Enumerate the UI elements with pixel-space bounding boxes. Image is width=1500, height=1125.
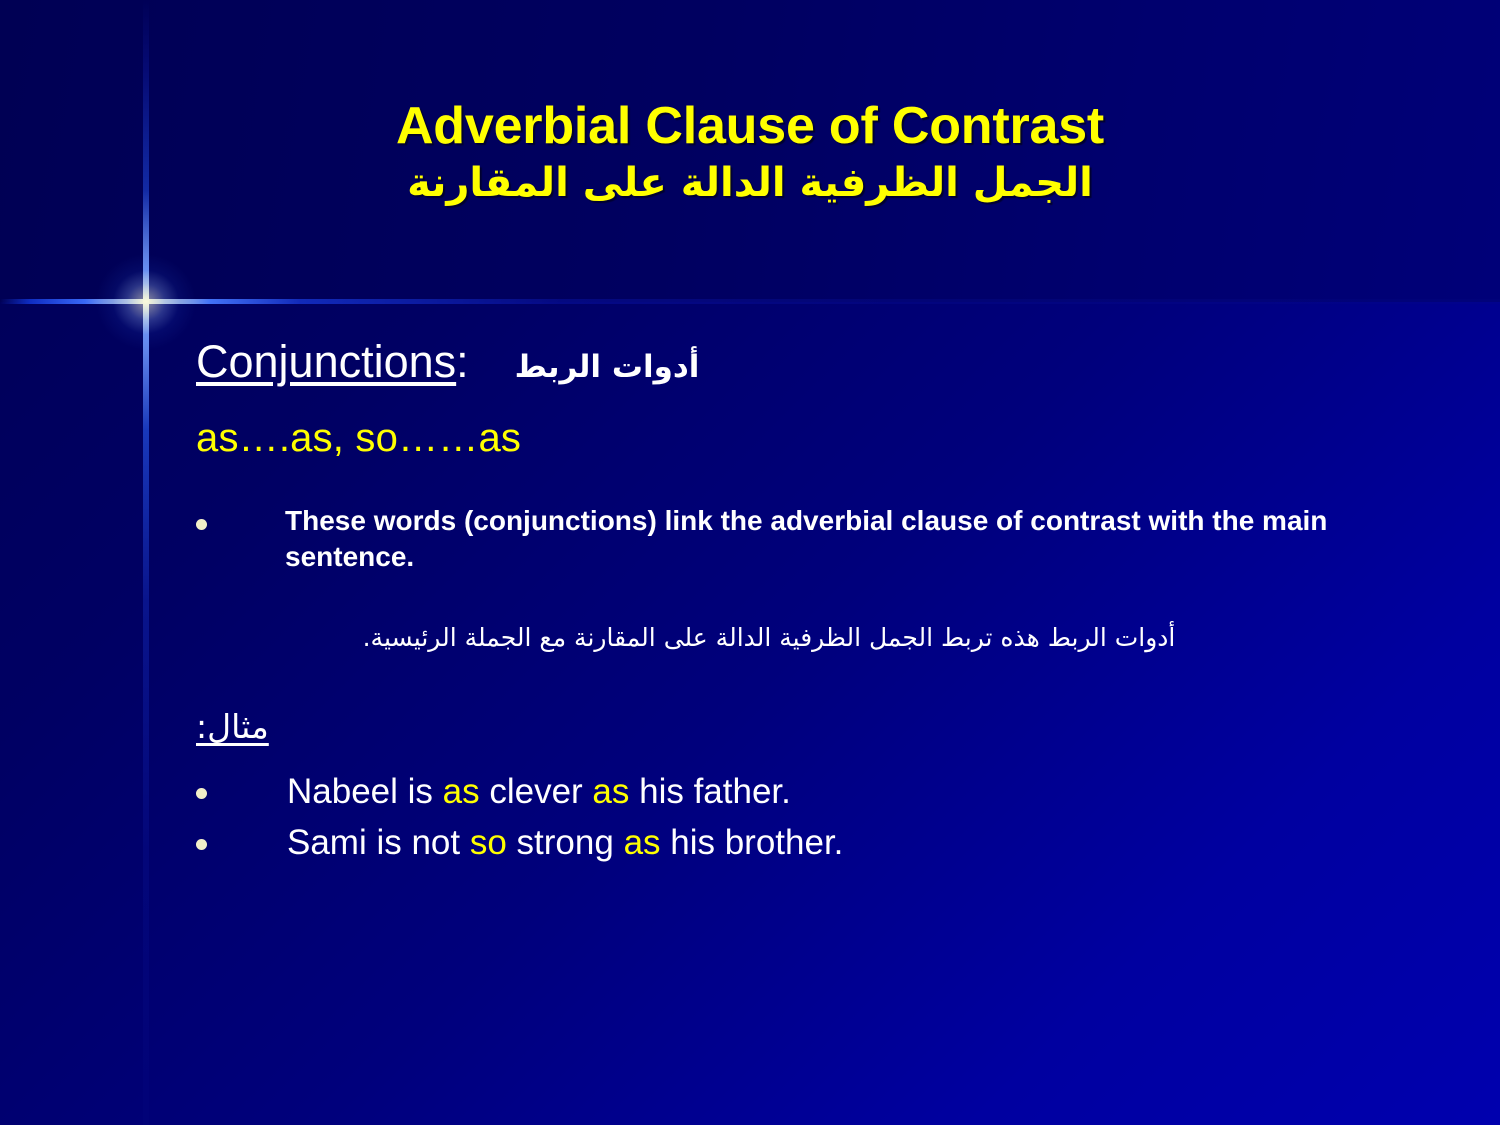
statement-arabic-translation: أدوات الربط هذه تربط الجمل الظرفية الدال… <box>196 620 1428 655</box>
example-label-row: مثال: <box>196 707 1428 746</box>
bullet-dot-icon <box>196 519 207 530</box>
statement-bullet-item: These words (conjunctions) link the adve… <box>196 503 1428 576</box>
highlighted-keyword: so <box>470 823 507 862</box>
example-sentence: Nabeel is as clever as his father. <box>287 774 791 809</box>
highlighted-keyword: as <box>443 772 480 811</box>
sentence-fragment: Sami is not <box>287 823 470 862</box>
slide-canvas: Adverbial Clause of Contrast الجمل الظرف… <box>0 0 1500 1125</box>
conjunctions-label-arabic: أدوات الربط <box>515 349 700 385</box>
highlighted-keyword: as <box>624 823 661 862</box>
bullet-dot-icon <box>196 788 207 799</box>
slide-title-english: Adverbial Clause of Contrast <box>0 98 1500 154</box>
example-list-item: Nabeel is as clever as his father. <box>196 774 1428 825</box>
slide-title-arabic: الجمل الظرفية الدالة على المقارنة <box>0 160 1500 206</box>
sentence-fragment: clever <box>480 772 593 811</box>
title-block: Adverbial Clause of Contrast الجمل الظرف… <box>0 98 1500 206</box>
sentence-fragment: strong <box>507 823 624 862</box>
example-sentence: Sami is not so strong as his brother. <box>287 825 843 860</box>
highlighted-keyword: as <box>592 772 629 811</box>
example-list-item: Sami is not so strong as his brother. <box>196 825 1428 876</box>
sentence-fragment: his father. <box>629 772 790 811</box>
conjunctions-label-text: Conjunctions <box>196 336 456 387</box>
sentence-fragment: Nabeel is <box>287 772 443 811</box>
bullet-dot-icon <box>196 839 207 850</box>
conjunctions-heading-row: Conjunctions: أدوات الربط <box>196 336 1428 388</box>
conjunctions-list: as….as, so……as <box>196 416 1428 461</box>
example-label-arabic: مثال: <box>196 707 269 746</box>
examples-list: Nabeel is as clever as his father. Sami … <box>196 774 1428 876</box>
conjunctions-label-colon: : <box>456 336 469 387</box>
conjunctions-label: Conjunctions: <box>196 336 469 388</box>
sentence-fragment: his brother. <box>661 823 844 862</box>
statement-text: These words (conjunctions) link the adve… <box>285 503 1395 576</box>
slide-body: Conjunctions: أدوات الربط as….as, so……as… <box>196 336 1428 876</box>
